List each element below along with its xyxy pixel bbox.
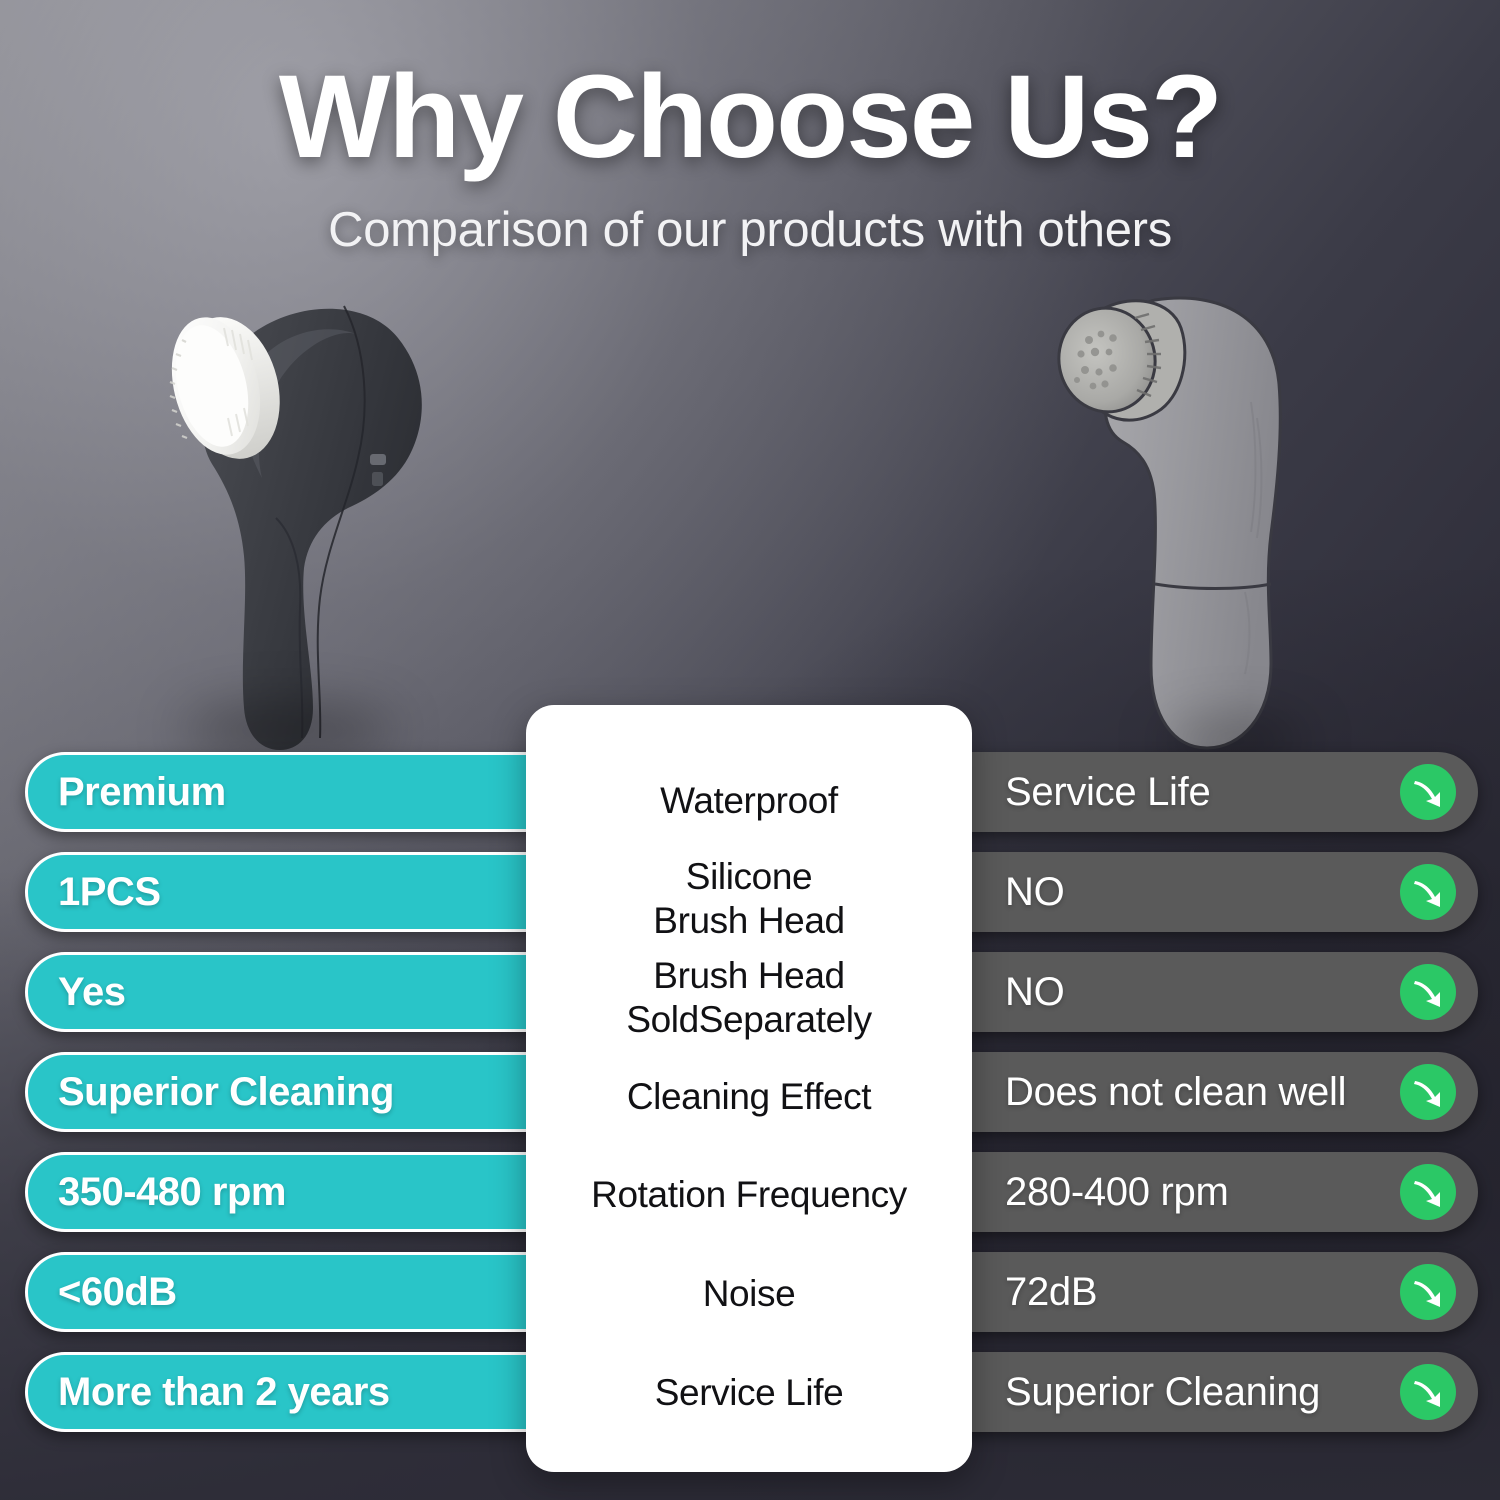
- header: Why Choose Us? Comparison of our product…: [0, 56, 1500, 258]
- feature-label: Brush HeadSoldSeparately: [626, 954, 871, 1041]
- feature-label-item: Rotation Frequency: [540, 1146, 958, 1245]
- feature-label: SiliconeBrush Head: [653, 855, 844, 942]
- product-ours-shadow: [183, 708, 393, 752]
- product-image-ours: [108, 268, 448, 758]
- feature-label-item: Noise: [540, 1245, 958, 1344]
- product-image-theirs: [1005, 292, 1335, 762]
- infographic-canvas: Why Choose Us? Comparison of our product…: [0, 0, 1500, 1500]
- ours-value: Yes: [58, 970, 125, 1015]
- theirs-value: Superior Cleaning: [1005, 1370, 1320, 1415]
- ours-value: <60dB: [58, 1270, 177, 1315]
- feature-label: Service Life: [655, 1371, 844, 1415]
- feature-label-item: Brush HeadSoldSeparately: [540, 948, 958, 1047]
- feature-label-item: Waterproof: [540, 751, 958, 850]
- product-ours-illustration: [108, 268, 448, 758]
- arrow-down-curve-icon: [1400, 1364, 1456, 1420]
- theirs-value: Service Life: [1005, 770, 1210, 815]
- ours-value: Premium: [58, 770, 226, 815]
- feature-label: Cleaning Effect: [627, 1075, 871, 1119]
- arrow-down-curve-icon: [1400, 1164, 1456, 1220]
- theirs-value: NO: [1005, 870, 1064, 915]
- arrow-down-curve-icon: [1400, 964, 1456, 1020]
- feature-labels-card: Waterproof SiliconeBrush Head Brush Head…: [526, 705, 972, 1472]
- ours-value: More than 2 years: [58, 1370, 390, 1415]
- feature-label-item: SiliconeBrush Head: [540, 850, 958, 949]
- arrow-down-curve-icon: [1400, 864, 1456, 920]
- arrow-down-curve-icon: [1400, 764, 1456, 820]
- theirs-value: Does not clean well: [1005, 1070, 1346, 1115]
- page-subtitle: Comparison of our products with others: [0, 202, 1500, 258]
- page-title: Why Choose Us?: [0, 56, 1500, 180]
- theirs-value: 280-400 rpm: [1005, 1170, 1229, 1215]
- feature-label: Noise: [703, 1272, 796, 1316]
- ours-value: 350-480 rpm: [58, 1170, 286, 1215]
- arrow-down-curve-icon: [1400, 1064, 1456, 1120]
- product-theirs-illustration: [1005, 292, 1335, 762]
- theirs-value: 72dB: [1005, 1270, 1097, 1315]
- feature-label: Rotation Frequency: [591, 1173, 907, 1217]
- feature-label: Waterproof: [660, 779, 838, 823]
- feature-label-item: Cleaning Effect: [540, 1047, 958, 1146]
- theirs-value: NO: [1005, 970, 1064, 1015]
- ours-value: 1PCS: [58, 870, 161, 915]
- ours-value: Superior Cleaning: [58, 1070, 394, 1115]
- arrow-down-curve-icon: [1400, 1264, 1456, 1320]
- feature-label-item: Service Life: [540, 1343, 958, 1442]
